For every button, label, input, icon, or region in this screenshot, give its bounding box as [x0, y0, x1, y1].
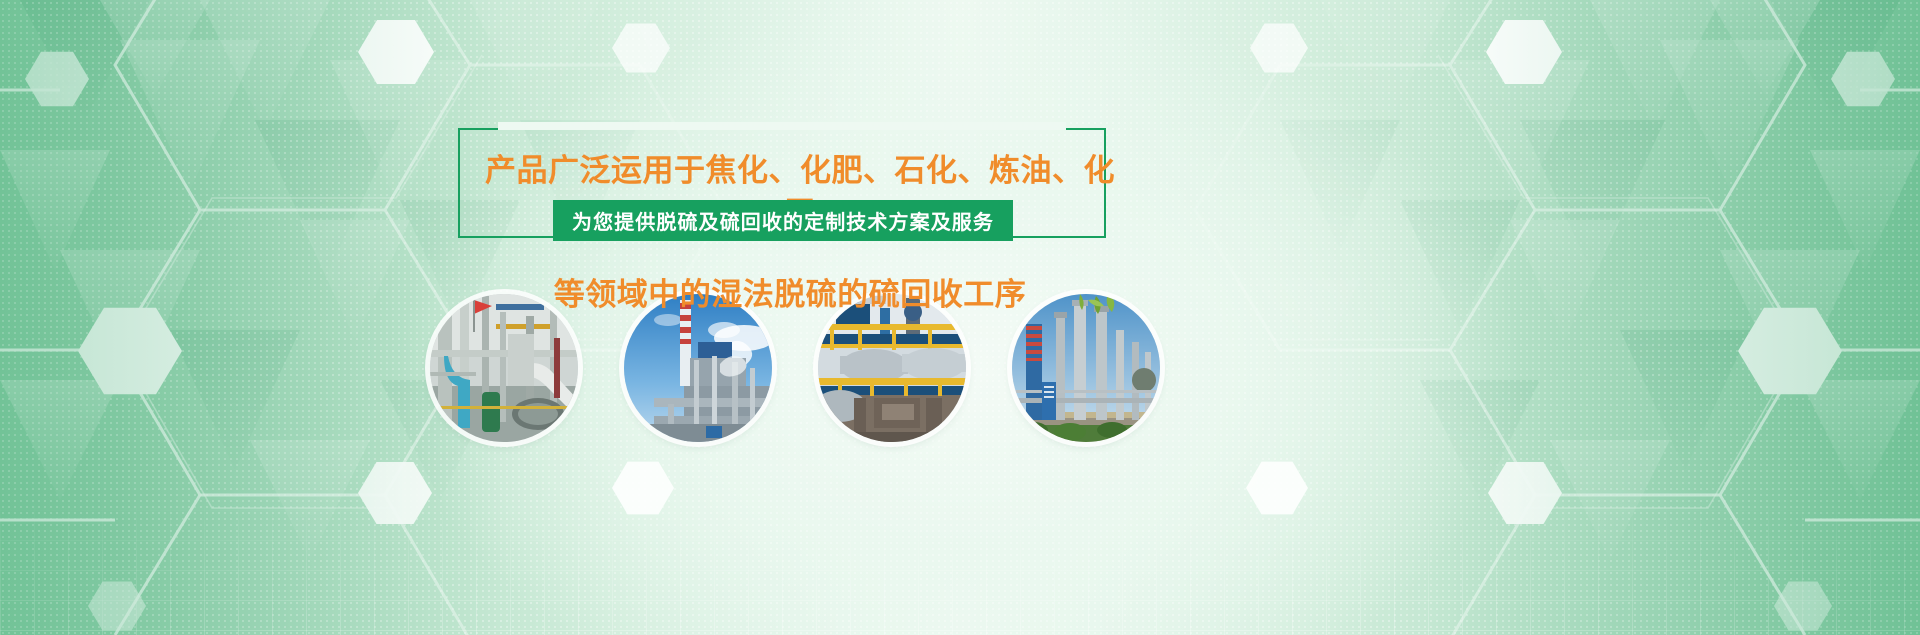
tagline-ribbon: 为您提供脱硫及硫回收的定制技术方案及服务 — [553, 200, 1013, 241]
tagline-text: 为您提供脱硫及硫回收的定制技术方案及服务 — [572, 206, 994, 235]
hero-banner: 产品广泛运用于焦化、化肥、石化、炼油、化工 等领域中的湿法脱硫的硫回收工序 为您… — [0, 0, 1920, 635]
headline-line-2: 等领域中的湿法脱硫的硫回收工序 — [460, 274, 1120, 316]
